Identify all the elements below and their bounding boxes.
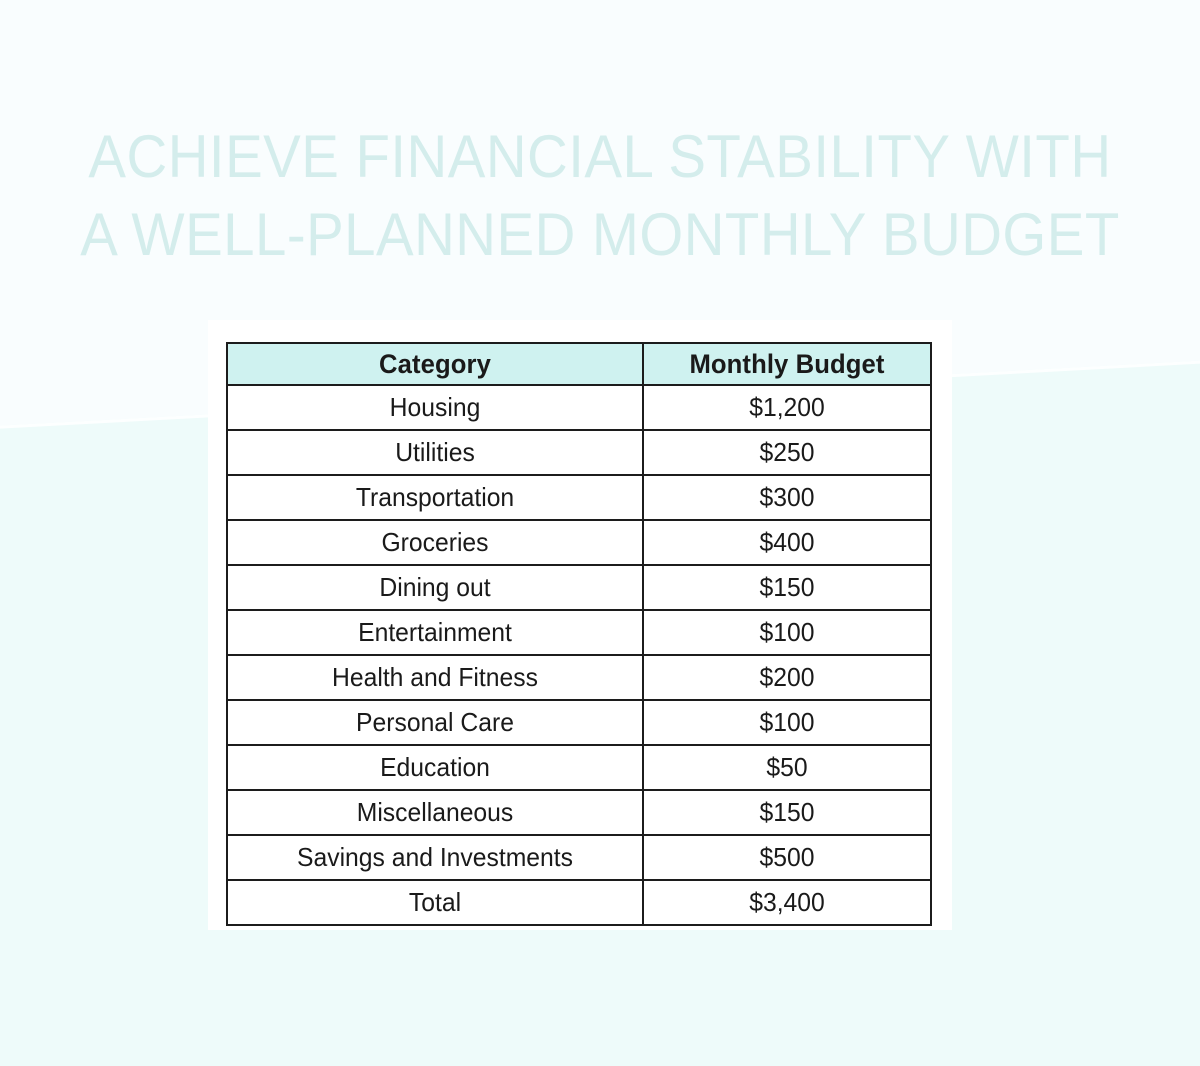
- table-row: Education $50: [227, 745, 931, 790]
- table-row: Housing $1,200: [227, 385, 931, 430]
- cell-category-value: Savings and Investments: [238, 842, 631, 873]
- cell-amount-value: $200: [651, 662, 923, 693]
- column-header-category-label: Category: [238, 349, 631, 380]
- cell-amount-value: $100: [651, 617, 923, 648]
- cell-category: Dining out: [227, 565, 643, 610]
- table-header: Category Monthly Budget: [227, 343, 931, 385]
- cell-category-value: Miscellaneous: [238, 797, 631, 828]
- table-row: Groceries $400: [227, 520, 931, 565]
- table-row: Dining out $150: [227, 565, 931, 610]
- cell-amount-value: $400: [651, 527, 923, 558]
- cell-amount-value: $250: [651, 437, 923, 468]
- cell-category-value: Entertainment: [238, 617, 631, 648]
- table-row: Personal Care $100: [227, 700, 931, 745]
- cell-amount: $300: [643, 475, 931, 520]
- cell-amount-total: $3,400: [643, 880, 931, 925]
- cell-category: Personal Care: [227, 700, 643, 745]
- cell-amount-value: $150: [651, 797, 923, 828]
- cell-amount-value: $50: [651, 752, 923, 783]
- cell-amount-value: $500: [651, 842, 923, 873]
- page-title: ACHIEVE FINANCIAL STABILITY WITH A WELL-…: [0, 118, 1200, 274]
- cell-category-value: Groceries: [238, 527, 631, 558]
- cell-category: Health and Fitness: [227, 655, 643, 700]
- table-row: Entertainment $100: [227, 610, 931, 655]
- cell-category: Groceries: [227, 520, 643, 565]
- cell-amount: $400: [643, 520, 931, 565]
- cell-amount-value: $100: [651, 707, 923, 738]
- cell-category-value: Transportation: [238, 482, 631, 513]
- cell-amount: $200: [643, 655, 931, 700]
- table-row: Health and Fitness $200: [227, 655, 931, 700]
- cell-category-value: Utilities: [238, 437, 631, 468]
- table-row: Transportation $300: [227, 475, 931, 520]
- cell-amount: $150: [643, 790, 931, 835]
- column-header-category: Category: [227, 343, 643, 385]
- column-header-monthly-budget: Monthly Budget: [643, 343, 931, 385]
- cell-category: Education: [227, 745, 643, 790]
- table-header-row: Category Monthly Budget: [227, 343, 931, 385]
- cell-amount: $100: [643, 610, 931, 655]
- table-body: Housing $1,200 Utilities $250 Transporta…: [227, 385, 931, 925]
- cell-category: Miscellaneous: [227, 790, 643, 835]
- cell-amount-value: $150: [651, 572, 923, 603]
- cell-category-value: Health and Fitness: [238, 662, 631, 693]
- cell-category: Housing: [227, 385, 643, 430]
- page-canvas: ACHIEVE FINANCIAL STABILITY WITH A WELL-…: [0, 0, 1200, 1066]
- page-title-line-1: ACHIEVE FINANCIAL STABILITY WITH: [36, 118, 1164, 196]
- cell-category-value: Dining out: [238, 572, 631, 603]
- cell-amount: $250: [643, 430, 931, 475]
- cell-category: Transportation: [227, 475, 643, 520]
- cell-category-total: Total: [227, 880, 643, 925]
- cell-category: Entertainment: [227, 610, 643, 655]
- cell-amount: $150: [643, 565, 931, 610]
- cell-amount: $1,200: [643, 385, 931, 430]
- cell-amount-value: $1,200: [651, 392, 923, 423]
- cell-amount: $50: [643, 745, 931, 790]
- table-row-total: Total $3,400: [227, 880, 931, 925]
- cell-category: Utilities: [227, 430, 643, 475]
- cell-amount-value: $300: [651, 482, 923, 513]
- cell-amount: $500: [643, 835, 931, 880]
- monthly-budget-table: Category Monthly Budget Housing $1,200 U…: [226, 342, 932, 926]
- cell-category-total-label: Total: [238, 887, 631, 918]
- page-title-line-2: A WELL-PLANNED MONTHLY BUDGET: [36, 196, 1164, 274]
- cell-category: Savings and Investments: [227, 835, 643, 880]
- cell-amount: $100: [643, 700, 931, 745]
- cell-category-value: Education: [238, 752, 631, 783]
- cell-category-value: Housing: [238, 392, 631, 423]
- table-row: Savings and Investments $500: [227, 835, 931, 880]
- table-row: Miscellaneous $150: [227, 790, 931, 835]
- column-header-monthly-budget-label: Monthly Budget: [651, 349, 923, 380]
- table-row: Utilities $250: [227, 430, 931, 475]
- cell-category-value: Personal Care: [238, 707, 631, 738]
- cell-amount-total-value: $3,400: [651, 887, 923, 918]
